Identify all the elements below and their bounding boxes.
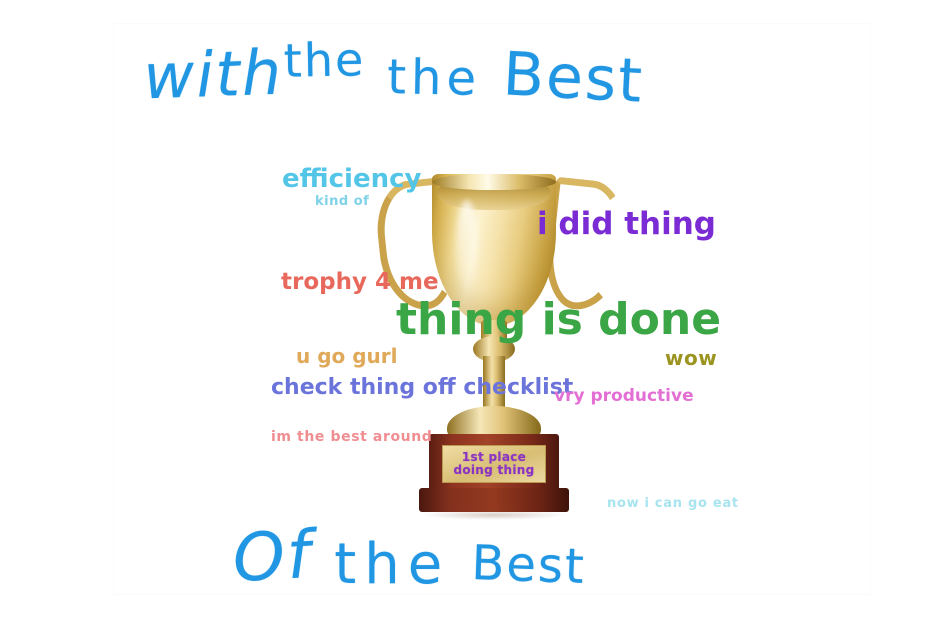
caption-top: withthe the Best xyxy=(144,40,643,102)
label-u-go-gurl: u go gurl xyxy=(296,344,398,368)
label-trophy-4-me: trophy 4 me xyxy=(281,269,439,295)
caption-bottom-word-3: Best xyxy=(471,539,587,591)
caption-top-word-4: Best xyxy=(502,44,646,111)
plaque-line-2: doing thing xyxy=(453,464,534,477)
label-wow: wow xyxy=(665,346,717,370)
label-now-i-can-go-eat: now i can go eat xyxy=(607,496,739,511)
trophy-cup-rim xyxy=(432,174,556,190)
meme-image-canvas: 1st place doing thing efficiency kind of… xyxy=(113,23,871,595)
caption-top-word-2: the xyxy=(283,36,365,83)
label-check-thing-off-checklist: check thing off checklist xyxy=(271,375,573,400)
label-i-did-thing: i did thing xyxy=(537,206,716,242)
caption-bottom-word-2: the xyxy=(334,537,450,593)
page-root: 1st place doing thing efficiency kind of… xyxy=(0,0,940,640)
label-thing-is-done: thing is done xyxy=(396,294,721,345)
caption-top-word-1: with xyxy=(142,42,284,109)
label-efficiency: efficiency xyxy=(282,164,421,194)
trophy-cup-highlight xyxy=(456,200,478,296)
label-kind-of: kind of xyxy=(315,194,369,209)
caption-bottom: Of the Best xyxy=(234,524,586,590)
label-vry-productive: vry productive xyxy=(554,386,694,406)
caption-top-word-3: the xyxy=(387,53,482,103)
trophy-shadow xyxy=(421,510,567,520)
caption-bottom-word-1: Of xyxy=(231,522,314,592)
trophy-base-lower xyxy=(419,488,569,512)
trophy-plaque: 1st place doing thing xyxy=(442,445,546,483)
label-im-the-best-around: im the best around xyxy=(271,429,432,445)
